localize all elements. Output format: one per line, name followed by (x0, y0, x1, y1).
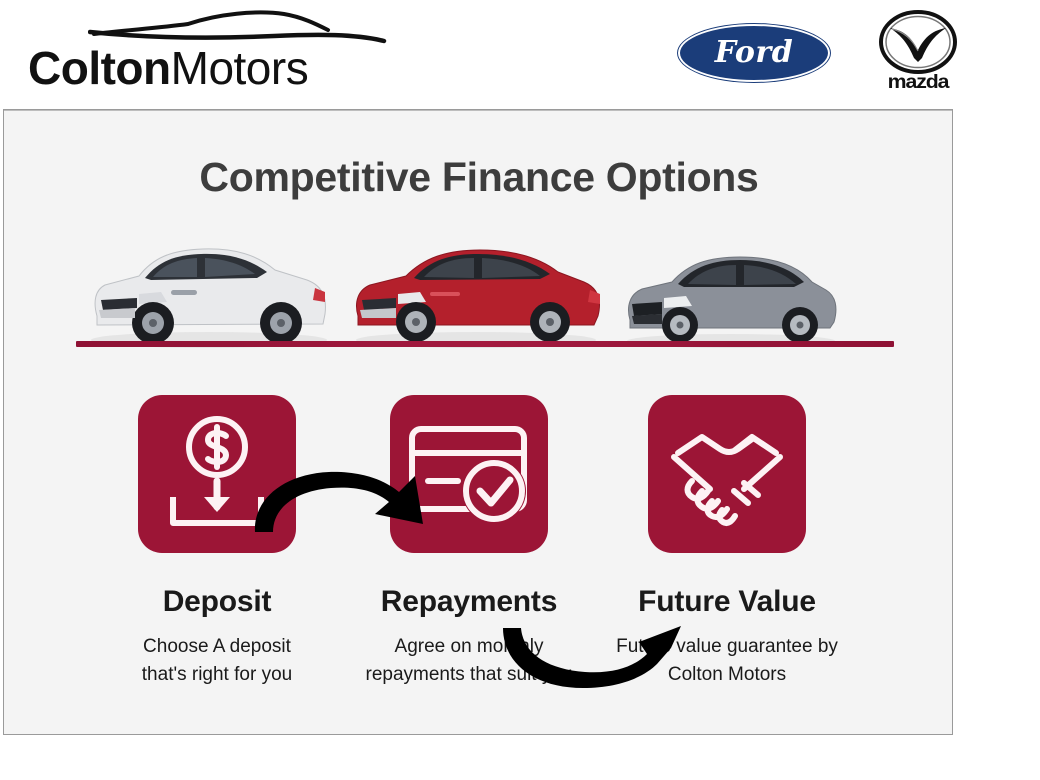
dealer-wordmark: ColtonMotors (28, 38, 388, 98)
car-mazda-3-sedan (344, 232, 609, 350)
flow-arrow-deposit-to-repayments (247, 462, 462, 534)
page-title: Competitive Finance Options (4, 154, 954, 201)
step-deposit[interactable]: Deposit Choose A deposit that's right fo… (72, 395, 362, 689)
ford-label: Ford (678, 24, 830, 82)
ford-logo[interactable]: Ford (678, 24, 830, 82)
dealer-name-bold: Colton (28, 42, 171, 94)
car-mazda-cx60-suv (79, 228, 339, 350)
flow-arrow-repayments-to-future-value (499, 618, 714, 698)
step-repayments-title: Repayments (324, 585, 614, 619)
step-future-value-title: Future Value (582, 585, 872, 619)
step-deposit-desc: Choose A deposit that's right for you (72, 633, 362, 689)
car-lineup (4, 220, 954, 350)
handshake-icon (648, 395, 806, 553)
mazda-wing-emblem-icon (878, 10, 958, 74)
header-bar: ColtonMotors Ford mazda (0, 0, 1040, 108)
mazda-label: mazda (866, 72, 969, 94)
dealer-logo[interactable]: ColtonMotors (28, 6, 388, 102)
step-future-value-card[interactable] (648, 395, 806, 553)
finance-options-poster: Competitive Finance Options (3, 109, 953, 735)
car-mazda-2-hatchback (616, 242, 846, 350)
mazda-logo[interactable]: mazda (872, 10, 964, 98)
dealer-name-light: Motors (171, 42, 309, 94)
finance-steps: Deposit Choose A deposit that's right fo… (4, 395, 954, 735)
step-deposit-desc-line1: Choose A deposit (72, 633, 362, 661)
step-deposit-title: Deposit (72, 585, 362, 619)
step-deposit-desc-line2: that's right for you (72, 661, 362, 689)
ground-accent-bar (76, 341, 894, 347)
